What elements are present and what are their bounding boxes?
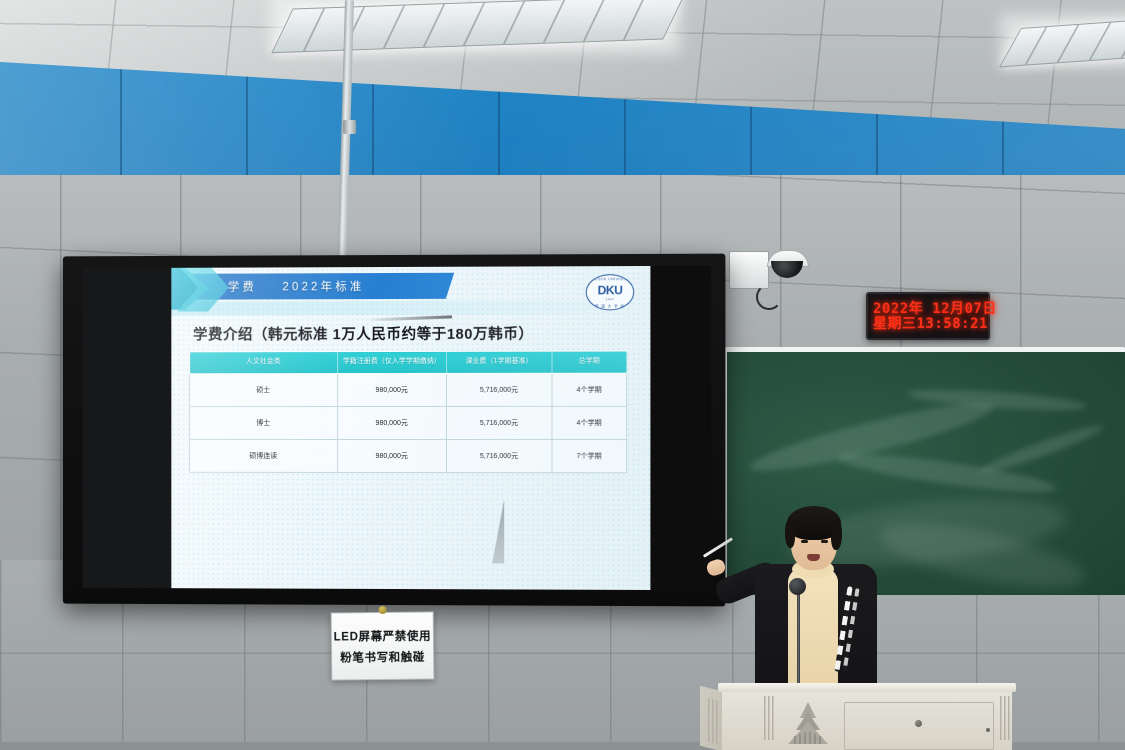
led-clock-display: 2022年 12月07日 星期三 13:58:21 (866, 292, 990, 340)
podium-side-vents (708, 698, 720, 745)
warning-sign-line-2: 粉笔书写和触碰 (340, 648, 425, 665)
led-display-screen[interactable]: 学费 2022年标准 DANKOOK UNIVERSITY DKU 1947 檀… (63, 254, 726, 607)
presenter-eye-left (801, 540, 808, 543)
podium-vents-left (764, 696, 776, 740)
podium-emblem-icon (784, 700, 832, 746)
podium-indicator (986, 728, 990, 732)
presenter-mouth (807, 554, 820, 561)
screen-letterbox (83, 268, 172, 588)
warning-sign-line-1: LED屏幕严禁使用 (334, 627, 432, 644)
presenter-eye-right (821, 540, 828, 543)
clock-time-row: 星期三 13:58:21 (873, 317, 983, 331)
presenter-hair-right (831, 520, 842, 550)
pole-joint (343, 120, 356, 134)
presenter-hair-left (785, 520, 795, 548)
camera-wire (756, 284, 782, 310)
podium (722, 686, 1012, 750)
screen-panel: 学费 2022年标准 DANKOOK UNIVERSITY DKU 1947 檀… (83, 266, 712, 590)
warning-sign: LED屏幕严禁使用 粉笔书写和触碰 (331, 611, 435, 680)
clock-time: 13:58:21 (917, 317, 988, 331)
sign-pin-icon (378, 606, 386, 614)
podium-desktop (718, 683, 1016, 692)
podium-vents-right (1000, 696, 1012, 740)
camera-junction-box (729, 251, 769, 289)
podium-microphone-icon (789, 578, 806, 595)
podium-lock-icon[interactable] (915, 720, 922, 727)
podium-microphone-stand (797, 586, 800, 688)
clock-weekday: 星期三 (873, 317, 917, 331)
clock-date: 2022年 12月07日 (873, 302, 983, 316)
screen-glare (171, 266, 650, 590)
classroom-scene: 2022年 12月07日 星期三 13:58:21 (0, 0, 1125, 750)
presentation-slide: 学费 2022年标准 DANKOOK UNIVERSITY DKU 1947 檀… (171, 266, 650, 590)
